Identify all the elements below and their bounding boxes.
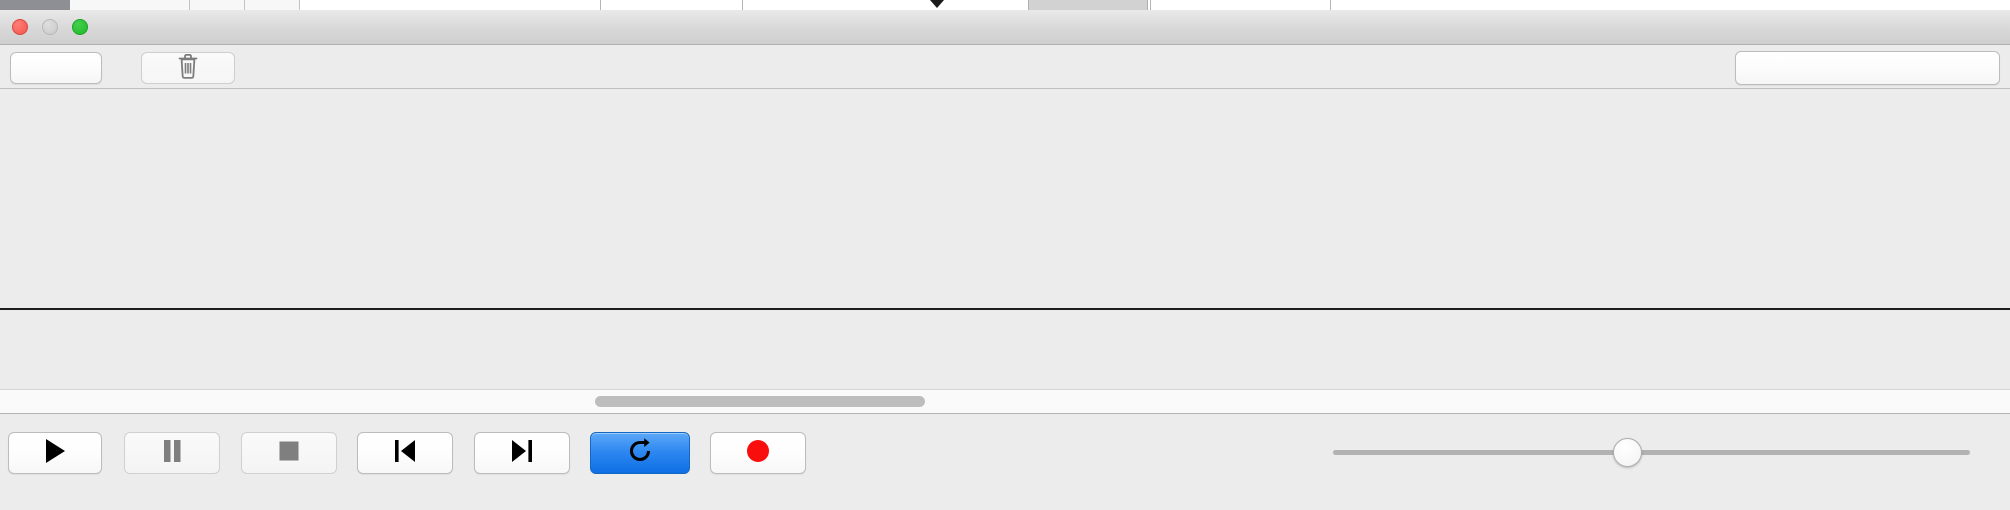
- record-button[interactable]: [710, 432, 806, 474]
- slider-thumb[interactable]: [1613, 438, 1642, 467]
- add-frame-button[interactable]: [10, 52, 102, 84]
- trash-icon: [177, 53, 199, 84]
- backdrop-caret-icon: [930, 0, 944, 8]
- backdrop-dark-panel: [0, 0, 70, 10]
- backdrop-divider: [600, 0, 601, 10]
- loop-icon: [625, 436, 655, 471]
- backdrop-divider: [1330, 0, 1331, 10]
- timeline-horizontal-scrollbar[interactable]: [0, 389, 2010, 413]
- backdrop-divider: [742, 0, 743, 10]
- backdrop-segment: [190, 0, 245, 10]
- title-bar: [0, 10, 2010, 45]
- playback-control-bar: [0, 413, 2010, 510]
- loop-button[interactable]: [590, 432, 690, 474]
- backdrop-control: [1028, 0, 1148, 10]
- clear-all-frames-button[interactable]: [1735, 51, 2000, 85]
- skip-back-icon: [392, 438, 418, 469]
- record-icon: [745, 438, 771, 469]
- backdrop-divider: [1150, 0, 1151, 10]
- slider-track[interactable]: [1333, 450, 1970, 455]
- parent-window-backdrop: [0, 0, 2010, 10]
- frame-toolbar: [0, 46, 2010, 89]
- pause-button[interactable]: [124, 432, 220, 474]
- delete-frame-button[interactable]: [141, 52, 235, 84]
- backdrop-segment: [70, 0, 190, 10]
- pause-icon: [160, 438, 184, 469]
- play-button[interactable]: [8, 432, 102, 474]
- backdrop-segment: [245, 0, 300, 10]
- stop-icon: [277, 439, 301, 468]
- timeline-panel[interactable]: [0, 89, 2010, 389]
- skip-to-end-button[interactable]: [474, 432, 570, 474]
- scrollbar-thumb[interactable]: [595, 396, 925, 407]
- animation-speed-slider[interactable]: [1333, 450, 1970, 456]
- stop-button[interactable]: [241, 432, 337, 474]
- cyanimator-window: [0, 0, 2010, 510]
- window-title: [0, 10, 2010, 45]
- play-icon: [42, 437, 68, 470]
- skip-forward-icon: [509, 438, 535, 469]
- timeline-axis-line: [0, 308, 2010, 310]
- skip-to-start-button[interactable]: [357, 432, 453, 474]
